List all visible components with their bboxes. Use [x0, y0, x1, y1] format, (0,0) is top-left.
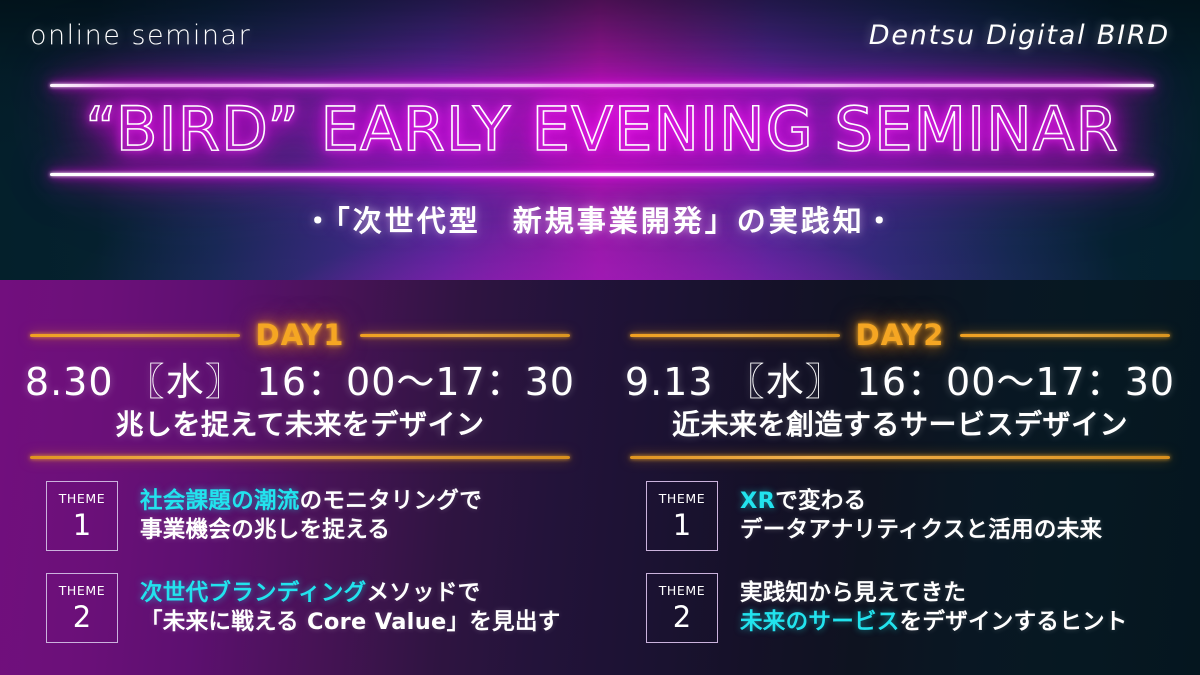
theme-description: 実践知から見えてきた 未来のサービスをデザインするヒント [740, 579, 1128, 639]
header-row: online seminar Dentsu Digital BIRD [0, 0, 1200, 70]
day1-session-title: 兆しを捉えて未来をデザイン [0, 408, 600, 442]
day-column-1: DAY1 8.30 〖水〗 16：00〜17：30 兆しを捉えて未来をデザイン … [0, 280, 600, 675]
day1-label: DAY1 [256, 318, 345, 352]
theme-description: XRで変わる データアナリティクスと活用の未来 [740, 487, 1102, 547]
day2-theme-list: THEME 1 XRで変わる データアナリティクスと活用の未来 THEME 2 … [600, 481, 1200, 643]
theme-line-2: 「未来に戦える Core Value」を見出す [140, 608, 561, 638]
theme-plain: データアナリティクスと活用の未来 [740, 517, 1102, 543]
day1-theme-list: THEME 1 社会課題の潮流のモニタリングで 事業機会の兆しを捉える THEM… [0, 481, 600, 643]
theme-highlight: XR [740, 488, 775, 514]
day1-separator [30, 456, 570, 459]
brand-logo-text: Dentsu Digital BIRD [869, 20, 1170, 51]
theme-line-1: 社会課題の潮流のモニタリングで [140, 487, 482, 517]
theme-badge: THEME 2 [46, 573, 118, 643]
page-title: “BIRD” EARLY EVENING SEMINAR [50, 87, 1154, 173]
theme-badge-word: THEME [59, 493, 106, 506]
hero-subtitle: ・「次世代型 新規事業開発」の実践知・ [0, 198, 1200, 240]
day1-theme-2: THEME 2 次世代ブランディングメソッドで 「未来に戦える Core Val… [46, 573, 600, 643]
day1-rule-right [360, 334, 570, 337]
day2-rule-right [960, 334, 1170, 337]
seminar-poster: online seminar Dentsu Digital BIRD “BIRD… [0, 0, 1200, 675]
day2-heading: DAY2 [600, 318, 1200, 352]
online-seminar-label: online seminar [30, 20, 251, 51]
theme-line-2: 事業機会の兆しを捉える [140, 516, 482, 546]
neon-rule-bottom [50, 173, 1154, 176]
theme-badge: THEME 2 [646, 573, 718, 643]
theme-badge-number: 2 [673, 603, 691, 632]
theme-description: 社会課題の潮流のモニタリングで 事業機会の兆しを捉える [140, 487, 482, 547]
day2-datetime: 9.13 〖水〗 16：00〜17：30 [600, 360, 1200, 405]
theme-badge: THEME 1 [46, 481, 118, 551]
day1-theme-1: THEME 1 社会課題の潮流のモニタリングで 事業機会の兆しを捉える [46, 481, 600, 551]
day2-separator [630, 456, 1170, 459]
day2-theme-2: THEME 2 実践知から見えてきた 未来のサービスをデザインするヒント [646, 573, 1200, 643]
theme-plain: メソッドで [366, 580, 480, 606]
theme-line-2: 未来のサービスをデザインするヒント [740, 608, 1128, 638]
theme-badge: THEME 1 [646, 481, 718, 551]
theme-badge-number: 1 [673, 511, 691, 540]
theme-highlight: 社会課題の潮流 [140, 488, 300, 514]
theme-plain: をデザインするヒント [900, 609, 1128, 635]
day-column-2: DAY2 9.13 〖水〗 16：00〜17：30 近未来を創造するサービスデザ… [600, 280, 1200, 675]
day1-datetime: 8.30 〖水〗 16：00〜17：30 [0, 360, 600, 405]
day2-theme-1: THEME 1 XRで変わる データアナリティクスと活用の未来 [646, 481, 1200, 551]
theme-highlight: 次世代ブランディング [140, 580, 366, 606]
day1-heading: DAY1 [0, 318, 600, 352]
theme-line-1: 次世代ブランディングメソッドで [140, 579, 561, 609]
schedule-columns: DAY1 8.30 〖水〗 16：00〜17：30 兆しを捉えて未来をデザイン … [0, 280, 1200, 675]
theme-badge-word: THEME [59, 585, 106, 598]
theme-badge-number: 2 [73, 603, 91, 632]
day2-session-title: 近未来を創造するサービスデザイン [600, 408, 1200, 442]
theme-plain: 実践知から見えてきた [740, 580, 966, 606]
theme-plain: のモニタリングで [300, 488, 482, 514]
theme-badge-number: 1 [73, 511, 91, 540]
theme-description: 次世代ブランディングメソッドで 「未来に戦える Core Value」を見出す [140, 579, 561, 639]
day1-rule-left [30, 334, 240, 337]
day2-label: DAY2 [856, 318, 945, 352]
theme-line-2: データアナリティクスと活用の未来 [740, 516, 1102, 546]
theme-highlight: 未来のサービス [740, 609, 900, 635]
neon-title-block: “BIRD” EARLY EVENING SEMINAR [50, 84, 1154, 176]
theme-plain: で変わる [775, 488, 866, 514]
theme-badge-word: THEME [659, 493, 706, 506]
theme-badge-word: THEME [659, 585, 706, 598]
theme-plain: 事業機会の兆しを捉える [140, 517, 390, 543]
theme-line-1: XRで変わる [740, 487, 1102, 517]
theme-line-1: 実践知から見えてきた [740, 579, 1128, 609]
day2-rule-left [630, 334, 840, 337]
theme-plain: 「未来に戦える Core Value」を見出す [140, 609, 561, 635]
